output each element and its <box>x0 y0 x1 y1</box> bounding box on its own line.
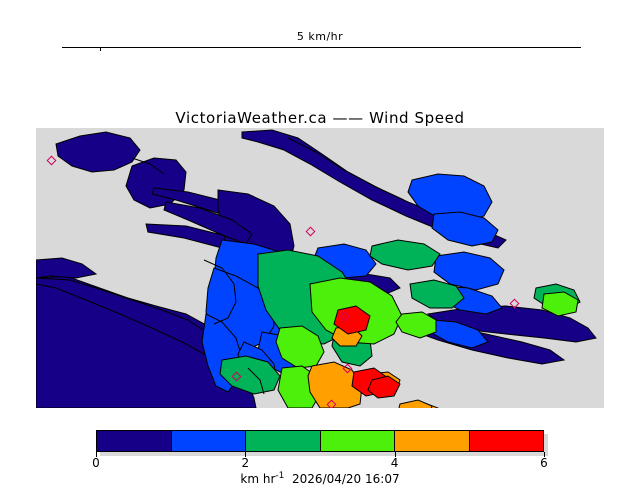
colorbar-tick-label: 4 <box>391 456 399 470</box>
colorbar-tick-label: 2 <box>241 456 249 470</box>
scale-bar: 5 km/hr <box>0 30 640 60</box>
colorbar-scale[interactable] <box>96 430 544 452</box>
scale-bar-line <box>62 47 581 48</box>
colorbar-segment-3 <box>320 431 395 451</box>
colorbar-tick-label: 0 <box>92 456 100 470</box>
colorbar-tick-labels: 0246 <box>96 456 544 470</box>
colorbar: 0246 km hr-1 2026/04/20 16:07 <box>96 430 544 476</box>
wind-speed-map-page: 5 km/hr VictoriaWeather.ca —— Wind Speed <box>0 0 640 480</box>
colorbar-segment-5 <box>469 431 544 451</box>
colorbar-tick-label: 6 <box>540 456 548 470</box>
scale-bar-tick <box>100 47 101 51</box>
map-canvas[interactable] <box>36 128 604 408</box>
map-svg <box>36 128 604 408</box>
colorbar-timestamp: 2026/04/20 16:07 <box>292 472 400 486</box>
colorbar-segment-0 <box>97 431 171 451</box>
scale-bar-label: 5 km/hr <box>0 30 640 43</box>
colorbar-units-and-timestamp: km hr-1 2026/04/20 16:07 <box>96 471 544 486</box>
colorbar-segment-2 <box>245 431 320 451</box>
colorbar-segment-1 <box>171 431 246 451</box>
colorbar-units-text: km hr <box>240 472 275 486</box>
page-title: VictoriaWeather.ca —— Wind Speed <box>0 109 640 127</box>
colorbar-segment-4 <box>394 431 469 451</box>
